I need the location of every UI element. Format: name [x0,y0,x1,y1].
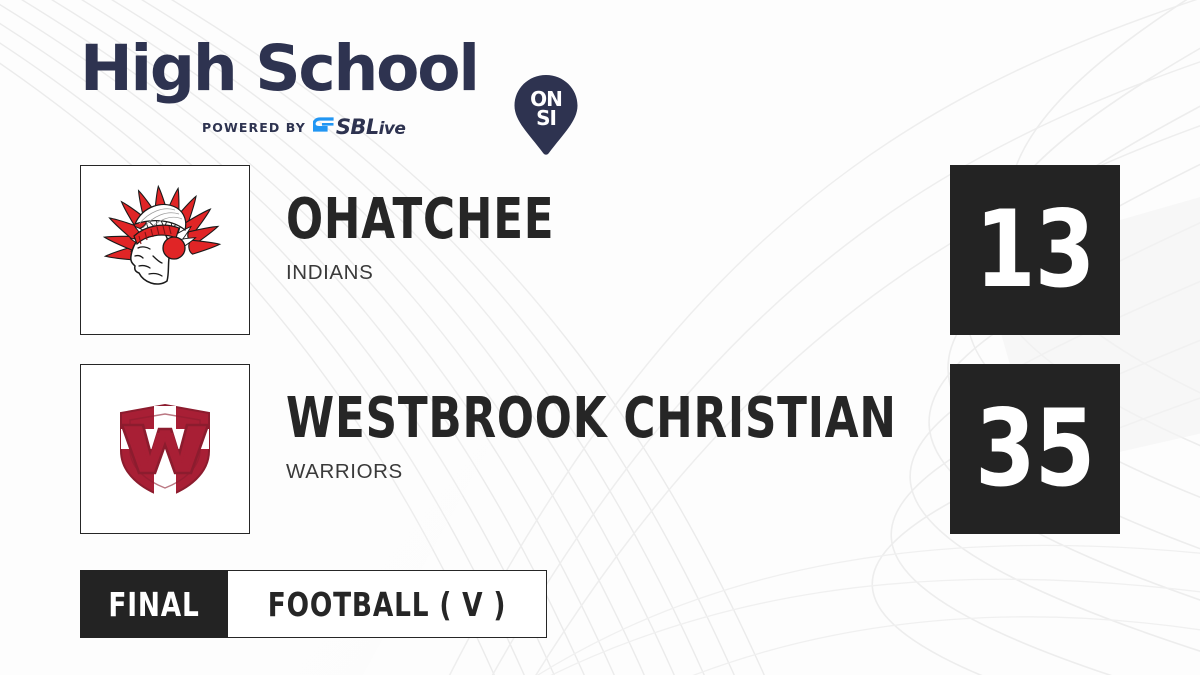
w-shield-logo [105,389,225,509]
status-badge: FINAL [80,570,228,638]
svg-text:SI: SI [536,106,556,130]
team-name: WESTBROOK CHRISTIAN [286,390,832,448]
team-logo-card [80,165,250,335]
powered-by-label: POWERED BY [202,120,306,135]
brand-lockup: High School ON SI POWERED BY SBLive [80,36,510,141]
team-mascot: INDIANS [286,261,986,285]
sblive-wordmark: SBLive [336,115,405,139]
sport-badge: FOOTBALL ( V ) [228,570,547,638]
team-logo-card [80,364,250,534]
team-row: WESTBROOK CHRISTIAN WARRIORS 35 [80,364,1120,534]
team-row: OHATCHEE INDIANS 13 [80,165,1120,335]
sblive-upper: SBL [336,115,379,139]
sblive-logo: SBLive [313,115,405,139]
team-score-box: 13 [950,165,1120,335]
team-info: WESTBROOK CHRISTIAN WARRIORS [286,390,986,484]
sblive-lower: ive [379,119,406,139]
powered-by-group: POWERED BY SBLive [202,116,405,138]
on-si-pin-logo: ON SI [512,74,580,156]
sblive-s-mark [313,117,335,137]
status-label: FINAL [108,585,199,624]
game-status-bar: FINAL FOOTBALL ( V ) [80,570,547,638]
team-mascot: WARRIORS [286,460,986,484]
team-info: OHATCHEE INDIANS [286,191,986,285]
brand-wordmark: High School [80,36,478,102]
team-score: 13 [975,197,1094,303]
team-score: 35 [975,396,1094,502]
indian-chief-head-logo [95,180,235,320]
sport-label: FOOTBALL ( V ) [268,585,506,624]
team-name: OHATCHEE [286,191,832,249]
team-score-box: 35 [950,364,1120,534]
